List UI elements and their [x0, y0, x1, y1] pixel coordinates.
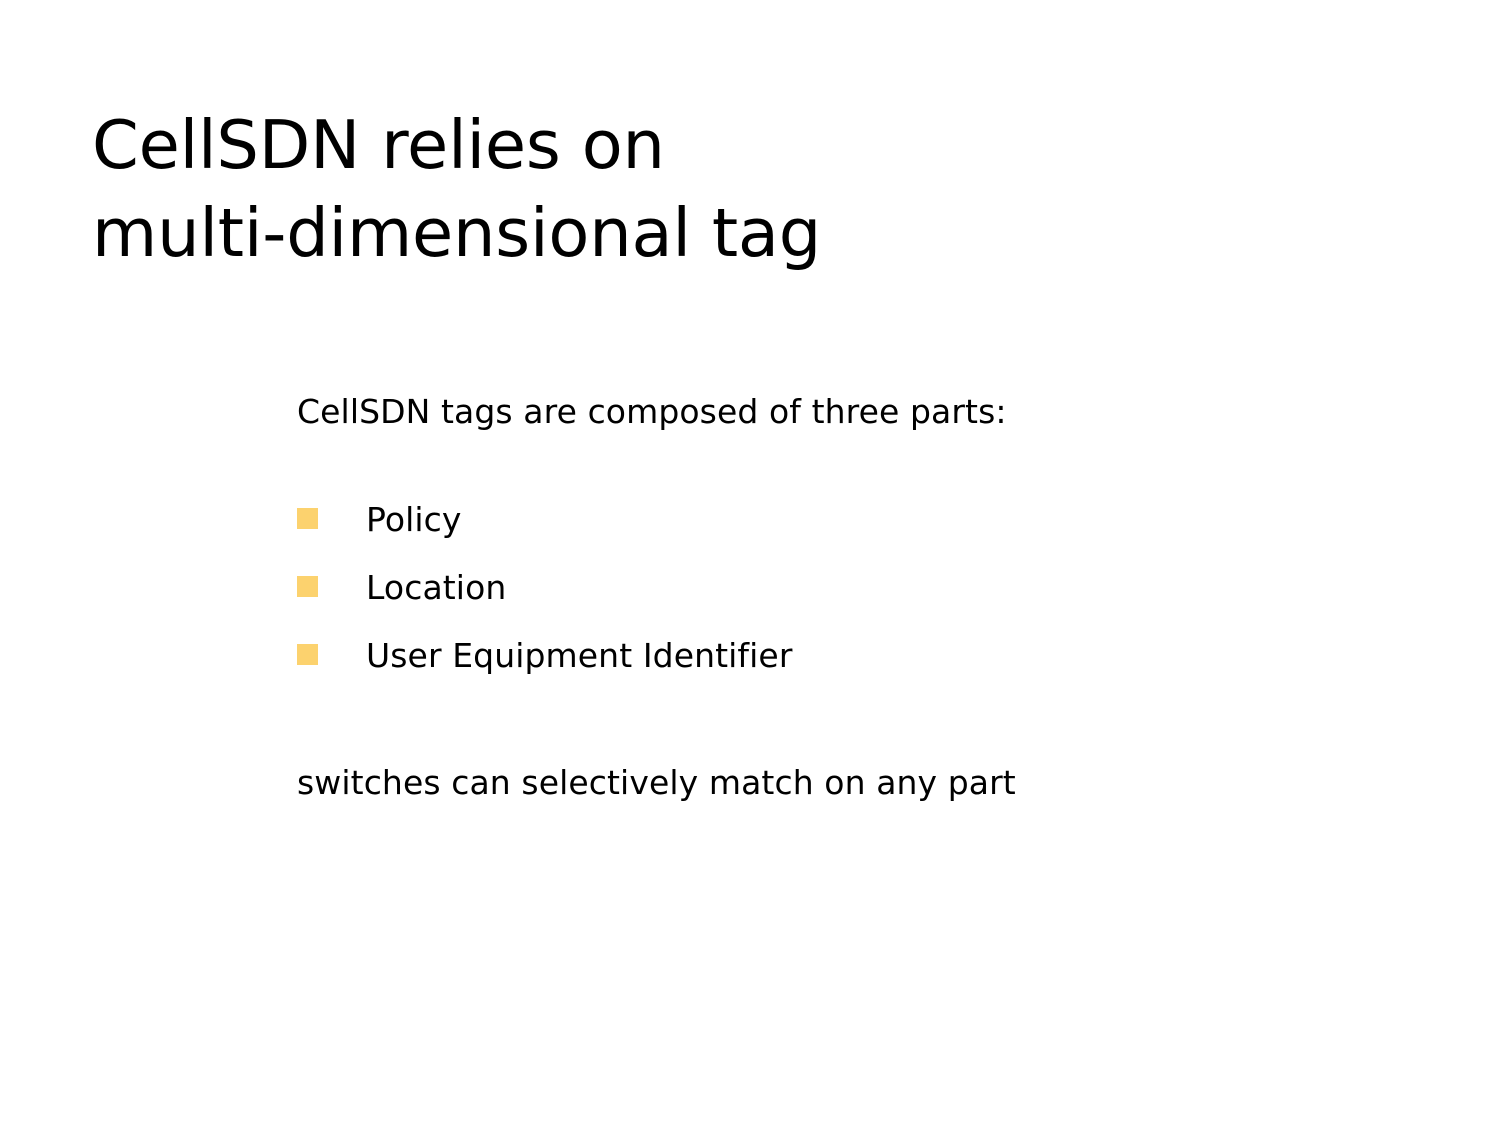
- intro-text: CellSDN tags are composed of three parts…: [297, 391, 1397, 433]
- page-title: CellSDN relies on multi-dimensional tag: [92, 101, 1272, 277]
- square-bullet-icon: [297, 508, 318, 529]
- list-item: User Equipment Identifier: [297, 635, 1397, 703]
- closing-text: switches can selectively match on any pa…: [297, 762, 1397, 804]
- square-bullet-icon: [297, 576, 318, 597]
- slide-body: CellSDN tags are composed of three parts…: [297, 358, 1397, 837]
- list-item-label: User Equipment Identifier: [366, 635, 1397, 677]
- presentation-slide: CellSDN relies on multi-dimensional tag …: [0, 0, 1500, 1125]
- list-item-label: Policy: [366, 499, 1397, 541]
- list-item: Location: [297, 567, 1397, 635]
- list-item: Policy: [297, 499, 1397, 567]
- tag-parts-list: Policy Location User Equipment Identifie…: [297, 499, 1397, 703]
- square-bullet-icon: [297, 644, 318, 665]
- list-item-label: Location: [366, 567, 1397, 609]
